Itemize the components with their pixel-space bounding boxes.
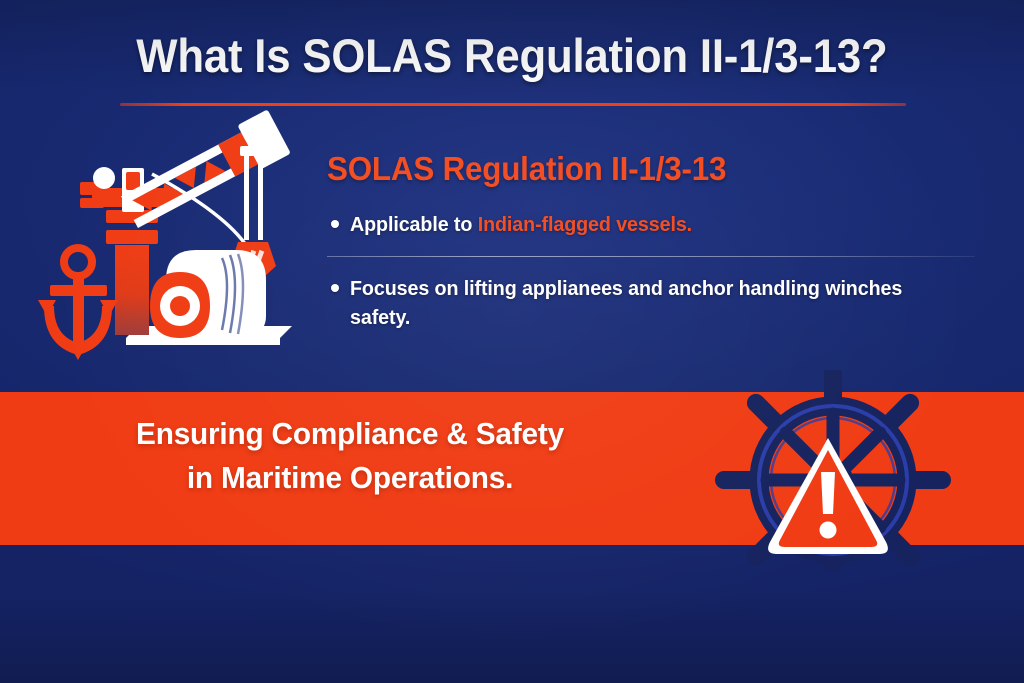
banner-line-1: Ensuring Compliance & Safety bbox=[72, 412, 629, 456]
ships-wheel-warning-illustration bbox=[710, 370, 960, 570]
anchor-icon bbox=[38, 248, 118, 360]
bullet-1-lead: Applicable to bbox=[350, 213, 478, 236]
banner-text: Ensuring Compliance & Safety in Maritime… bbox=[60, 412, 640, 500]
content-column: SOLAS Regulation II-1/3-13 Applicable to… bbox=[327, 150, 982, 332]
title-underline-rule bbox=[120, 103, 906, 106]
crane-anchor-winch-illustration bbox=[30, 110, 330, 360]
banner-line-2: in Maritime Operations. bbox=[72, 456, 629, 500]
section-subheading: SOLAS Regulation II-1/3-13 bbox=[327, 150, 949, 188]
warning-triangle-icon bbox=[768, 438, 888, 554]
bullet-text-1: Applicable to Indian-flagged vessels. bbox=[350, 210, 692, 239]
list-item: Focuses on lifting applianees and anchor… bbox=[327, 274, 982, 332]
bullet-dot-icon bbox=[331, 284, 339, 292]
infographic-poster: What Is SOLAS Regulation II-1/3-13? bbox=[0, 0, 1024, 683]
bullet-text-2: Focuses on lifting applianees and anchor… bbox=[350, 274, 957, 332]
page-title: What Is SOLAS Regulation II-1/3-13? bbox=[136, 28, 887, 83]
page-title-container: What Is SOLAS Regulation II-1/3-13? bbox=[0, 28, 1024, 83]
bullet-dot-icon bbox=[331, 220, 339, 228]
winch-drum-icon bbox=[150, 250, 266, 338]
list-item: Applicable to Indian-flagged vessels. bbox=[327, 210, 982, 239]
bullet-1-highlight: Indian-flagged vessels. bbox=[478, 213, 692, 236]
bullet-divider bbox=[327, 256, 975, 257]
